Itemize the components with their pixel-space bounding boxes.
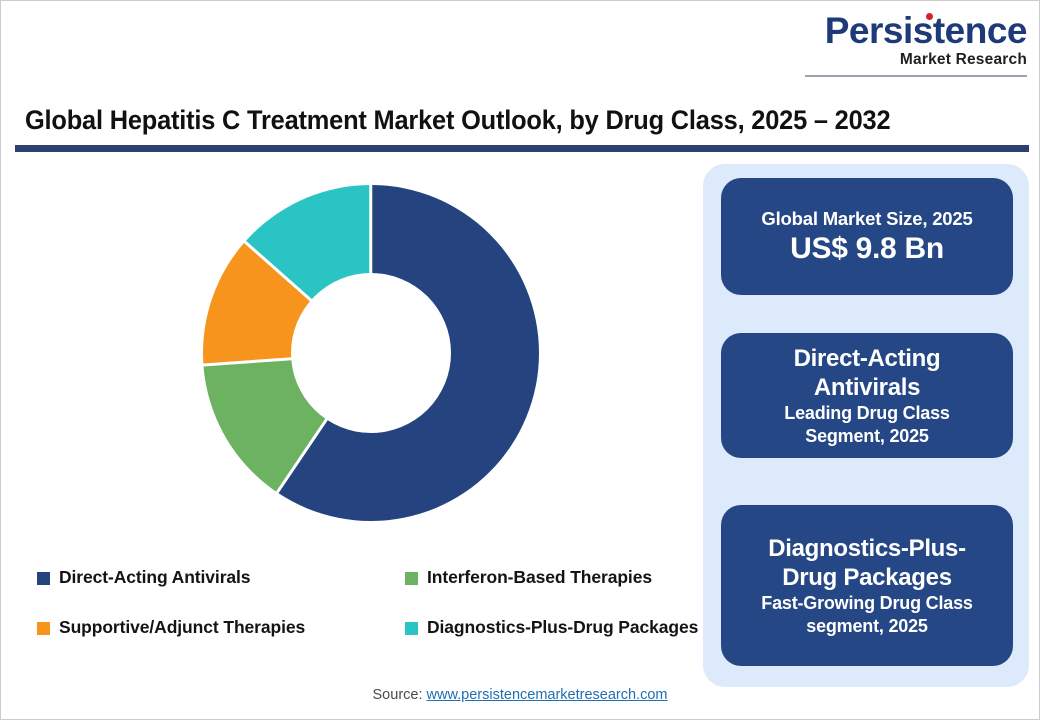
source-link[interactable]: www.persistencemarketresearch.com <box>427 687 668 703</box>
leading-segment-heading-line2: Antivirals <box>814 373 920 402</box>
fast-growing-heading-line1: Diagnostics-Plus- <box>768 534 966 563</box>
highlights-panel: Global Market Size, 2025 US$ 9.8 Bn Dire… <box>703 164 1029 687</box>
brand-underline <box>805 75 1027 77</box>
legend-label: Supportive/Adjunct Therapies <box>59 617 305 638</box>
leading-segment-sub-line2: Segment, 2025 <box>805 425 928 448</box>
fast-growing-segment-card: Diagnostics-Plus- Drug Packages Fast-Gro… <box>721 505 1013 666</box>
legend-label: Direct-Acting Antivirals <box>59 567 250 588</box>
brand-tagline: Market Research <box>797 51 1027 69</box>
donut-center-hole <box>291 273 451 433</box>
legend-swatch-icon <box>37 622 50 635</box>
chart-legend: Direct-Acting Antivirals Interferon-Base… <box>37 567 697 667</box>
donut-chart <box>203 185 539 521</box>
fast-growing-sub-line1: Fast-Growing Drug Class <box>761 592 972 615</box>
legend-label: Diagnostics-Plus-Drug Packages <box>427 617 698 638</box>
market-size-card: Global Market Size, 2025 US$ 9.8 Bn <box>721 178 1013 295</box>
legend-item-supportive-adjunct-therapies[interactable]: Supportive/Adjunct Therapies <box>37 617 405 638</box>
legend-item-direct-acting-antivirals[interactable]: Direct-Acting Antivirals <box>37 567 405 588</box>
legend-label: Interferon-Based Therapies <box>427 567 652 588</box>
brand-dot-icon <box>926 13 933 20</box>
leading-segment-heading-line1: Direct-Acting <box>794 344 941 373</box>
infographic-page: Persistence Market Research Global Hepat… <box>0 0 1040 720</box>
market-size-caption: Global Market Size, 2025 <box>761 207 972 231</box>
market-size-value: US$ 9.8 Bn <box>790 231 944 267</box>
legend-swatch-icon <box>405 622 418 635</box>
legend-item-interferon-based-therapies[interactable]: Interferon-Based Therapies <box>405 567 695 588</box>
legend-row: Direct-Acting Antivirals Interferon-Base… <box>37 567 697 617</box>
leading-segment-card: Direct-Acting Antivirals Leading Drug Cl… <box>721 333 1013 458</box>
page-title: Global Hepatitis C Treatment Market Outl… <box>25 105 890 136</box>
leading-segment-sub-line1: Leading Drug Class <box>784 402 949 425</box>
fast-growing-heading-line2: Drug Packages <box>782 563 952 592</box>
source-line: Source: www.persistencemarketresearch.co… <box>1 687 1039 703</box>
fast-growing-sub-line2: segment, 2025 <box>806 615 927 638</box>
legend-row: Supportive/Adjunct Therapies Diagnostics… <box>37 617 697 667</box>
legend-item-diagnostics-plus-drug-packages[interactable]: Diagnostics-Plus-Drug Packages <box>405 617 695 638</box>
legend-swatch-icon <box>405 572 418 585</box>
chart-area <box>15 161 695 561</box>
brand-logo: Persistence Market Research <box>797 11 1027 73</box>
brand-name: Persistence <box>825 11 1027 51</box>
source-prefix: Source: <box>373 687 423 703</box>
title-divider <box>15 145 1029 152</box>
legend-swatch-icon <box>37 572 50 585</box>
